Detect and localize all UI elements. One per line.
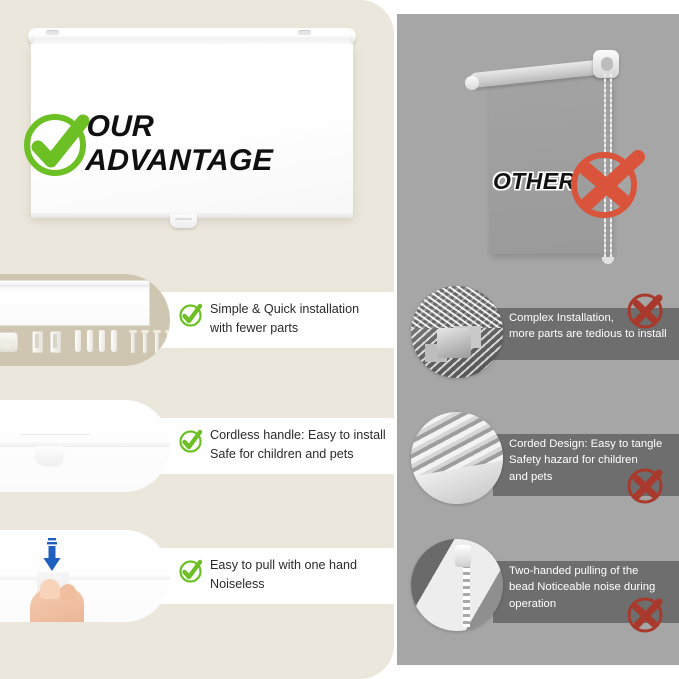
advantage-lockup: OUR ADVANTAGE [20,108,273,180]
headrail-cap-left-icon [46,30,59,35]
feature-art-2 [0,400,170,492]
long-screw-part-icon [155,330,159,353]
screw-part-icon [111,330,117,352]
feature-art-1 [0,274,170,366]
feature-label: Complex Installation, more parts are ted… [509,310,677,343]
other-feature-row-1: Complex Installation, more parts are ted… [397,286,679,382]
anchor-part-icon [50,331,61,353]
feature-label: Corded Design: Easy to tangle Safety haz… [509,436,677,485]
feature-label: Simple & Quick installation with fewer p… [210,300,390,338]
bracket-part-icon [0,332,18,352]
bead-chain-connector-icon [602,257,614,264]
long-screw-part-icon [167,330,170,353]
headrail-cap-left-icon [465,76,479,90]
advantage-hero: OUR ADVANTAGE [0,0,394,262]
bead-chain-on-blind-photo-icon [411,539,503,631]
blind-bottom-bar [0,574,170,580]
tangled-parts-photo-icon [411,286,503,378]
cordless-handle-closeup-icon [0,400,170,492]
other-lockup: OTHER [493,139,646,223]
anchor-part-icon [32,331,43,353]
down-arrow-icon [42,538,62,574]
chain-bracket-icon [593,50,619,78]
screw-part-icon [75,330,81,352]
feature-label: Two-handed pulling of the bead Noticeabl… [509,563,677,612]
mini-blind-icon [0,280,150,326]
page-title: OUR ADVANTAGE [85,110,275,177]
other-hero: OTHER [397,14,679,276]
screw-part-icon [87,330,93,352]
screw-part-icon [99,330,105,352]
handle-bar [0,440,170,447]
other-feature-row-3: Two-handed pulling of the bead Noticeabl… [397,539,679,635]
green-check-circle-icon [178,428,204,454]
comparison-infographic: OUR ADVANTAGE [0,0,679,679]
other-feature-row-2: Corded Design: Easy to tangle Safety haz… [397,412,679,508]
advantage-panel: OUR ADVANTAGE [0,0,394,679]
green-check-circle-icon [178,302,204,328]
red-x-circle-icon [562,139,646,223]
feature-label: Easy to pull with one hand Noiseless [210,556,390,594]
feature-label: Cordless handle: Easy to install Safe fo… [210,426,390,464]
other-panel: OTHER [397,14,679,665]
hand-icon [30,588,84,622]
headrail-cap-right-icon [298,30,311,35]
handle-knob-icon [36,446,63,464]
long-screw-part-icon [143,330,147,353]
green-check-circle-icon [20,108,92,180]
feature-art-3 [0,530,170,622]
green-check-circle-icon [178,558,204,584]
handle-seam [20,434,90,435]
long-screw-part-icon [131,330,135,353]
tangled-bead-chain-photo-icon [411,412,503,504]
blind-pull-tab-icon [170,214,197,228]
hand-pulling-blind-icon [0,530,170,622]
